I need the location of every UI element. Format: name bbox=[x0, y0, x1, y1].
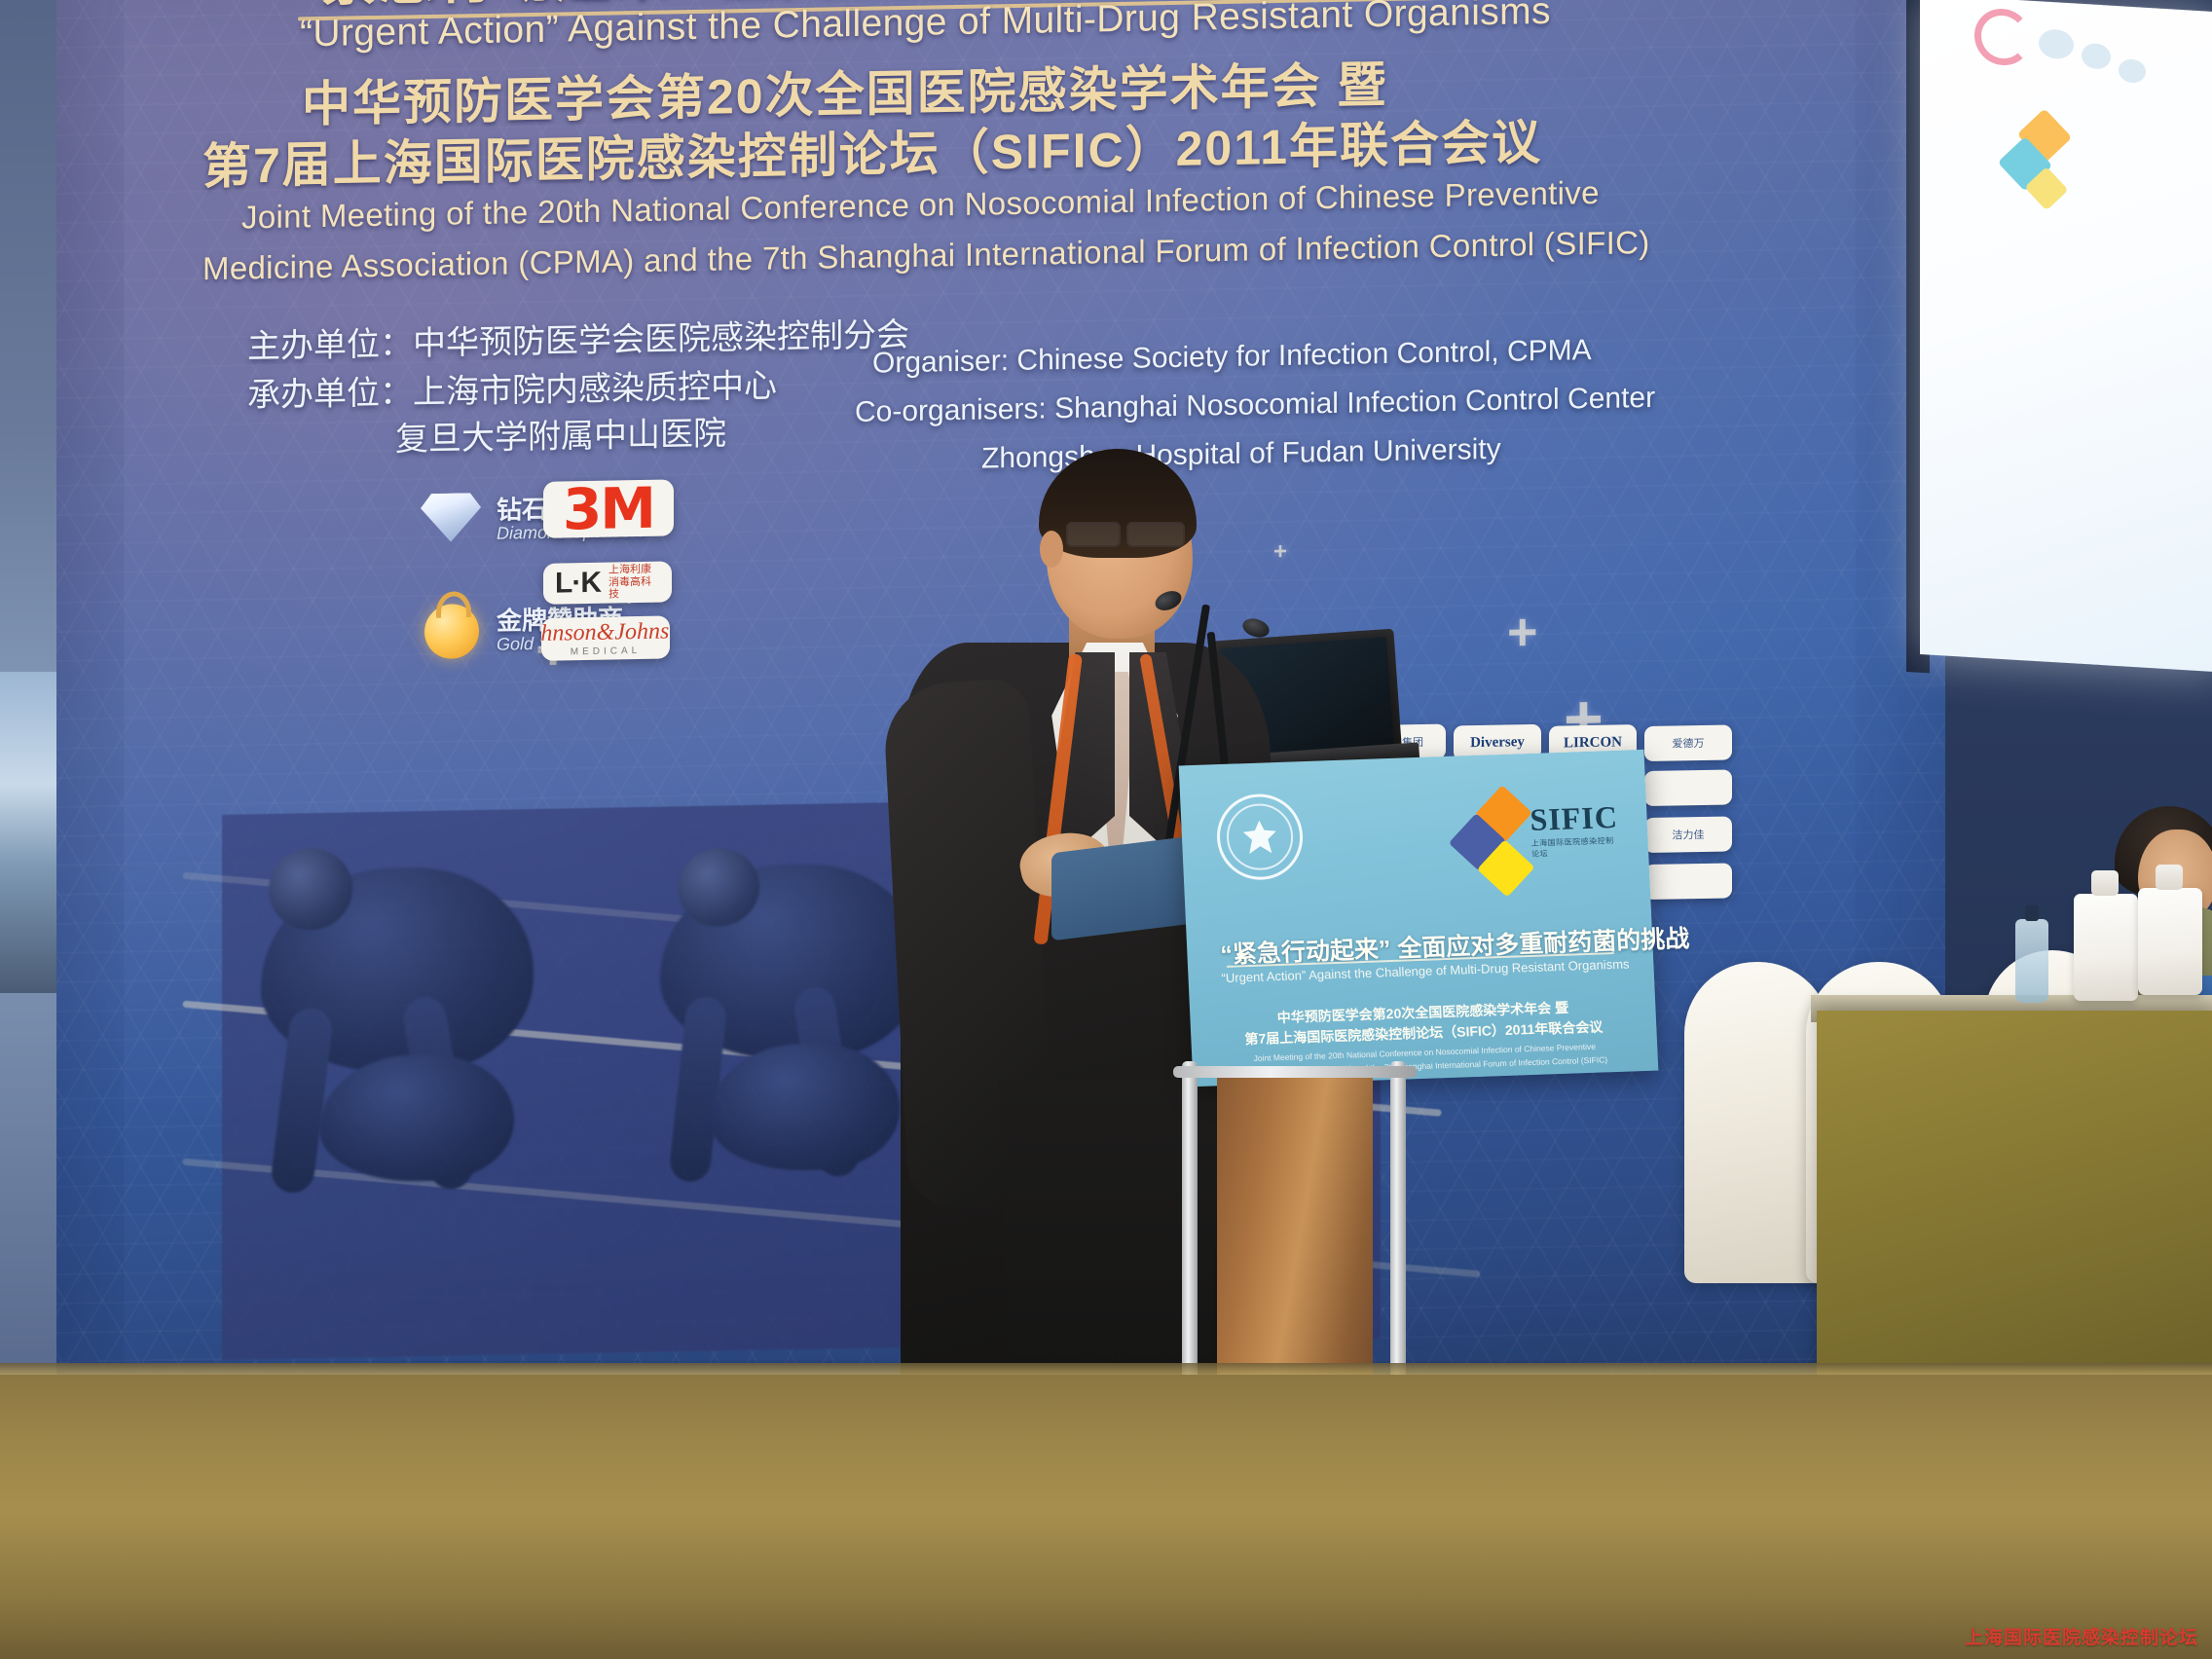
host-label-text: 主办单位： bbox=[247, 325, 413, 365]
sponsor-chip-johnson: Johnson&Johnson MEDICAL bbox=[541, 615, 670, 660]
sponsor-jj-sub: MEDICAL bbox=[541, 645, 670, 658]
slide-blob bbox=[2039, 28, 2074, 59]
sific-wordmark-sub: 上海国际医院感染控制论坛 bbox=[1530, 835, 1619, 860]
diamond-icon bbox=[421, 493, 481, 542]
sific-wordmark: SIFIC 上海国际医院感染控制论坛 bbox=[1530, 799, 1620, 860]
sific-logo: SIFIC 上海国际医院感染控制论坛 bbox=[1460, 790, 1610, 874]
sponsor-wall-label: Diversey bbox=[1470, 734, 1525, 752]
screenshot-root: + + + + + + “紧急行动起来” 全面应对多重耐药菌的挑战 “Urgen… bbox=[0, 0, 2212, 1659]
sponsor-wall-item bbox=[1644, 769, 1732, 806]
organiser-value-1: 上海市院内感染质控中心 bbox=[413, 367, 777, 411]
organiser-en-label: Organiser: bbox=[872, 345, 1009, 380]
sponsor-wall-item bbox=[1644, 863, 1732, 900]
podium-front-sign: SIFIC 上海国际医院感染控制论坛 “紧急行动起来” 全面应对多重耐药菌的挑战… bbox=[1179, 750, 1659, 1087]
sponsor-lk-label: L·K bbox=[555, 567, 601, 601]
coorganisers-en-value-1: Shanghai Nosocomial Infection Control Ce… bbox=[1054, 382, 1655, 424]
image-watermark: 上海国际医院感染控制论坛 bbox=[1965, 1623, 2198, 1649]
host-value-text: 中华预防医学会医院感染控制分会 bbox=[413, 316, 909, 362]
projection-screen bbox=[1920, 0, 2212, 673]
backdrop-coorganisers-en: Co-organisers: Shanghai Nosocomial Infec… bbox=[855, 382, 1655, 429]
sponsor-chip-3m: 3M bbox=[543, 479, 674, 537]
hand-sanitizer-bottle bbox=[2138, 888, 2202, 995]
sponsor-wall-label: LIRCON bbox=[1564, 734, 1622, 752]
sponsor-3m-label: 3M bbox=[563, 479, 654, 537]
backdrop-organiser-en: Organiser: Chinese Society for Infection… bbox=[872, 334, 1592, 381]
left-window bbox=[0, 672, 64, 993]
organiser-en-value: Chinese Society for Infection Control, C… bbox=[1016, 334, 1591, 377]
slide-ring-graphic bbox=[1974, 7, 2031, 66]
sponsor-wall-label: 洁力佳 bbox=[1673, 827, 1705, 843]
stage-floor bbox=[0, 1375, 2212, 1659]
organiser-label-text: 承办单位： bbox=[247, 374, 413, 414]
sific-wordmark-text: SIFIC bbox=[1530, 799, 1619, 837]
podium-rail bbox=[1173, 1066, 1417, 1078]
slide-blob bbox=[2082, 43, 2111, 70]
slide-blob bbox=[2119, 58, 2146, 84]
water-bottle bbox=[2015, 919, 2048, 1003]
sponsor-wall-label: 爱德万 bbox=[1673, 735, 1705, 752]
backdrop-title-en-line2: Medicine Association (CPMA) and the 7th … bbox=[203, 224, 1650, 287]
speaker-ear bbox=[1040, 531, 1063, 568]
sponsor-jj-label: Johnson&Johnson bbox=[541, 618, 670, 646]
sponsor-wall-item: 爱德万 bbox=[1644, 724, 1732, 761]
backdrop-organiser-value-2: 复旦大学附属中山医院 bbox=[395, 406, 726, 460]
sponsor-lk-sub: 上海利康消毒高科技 bbox=[608, 564, 660, 602]
head-table-cloth bbox=[1817, 1011, 2212, 1390]
sponsor-chip-lk: L·K 上海利康消毒高科技 bbox=[543, 561, 672, 604]
hand-sanitizer-bottle bbox=[2074, 894, 2138, 1001]
backdrop-host-label: 主办单位：中华预防医学会医院感染控制分会 bbox=[247, 308, 909, 367]
backdrop-coorganisers-en-value-2: Zhongshan Hospital of Fudan University bbox=[981, 433, 1501, 476]
cpma-seal-icon bbox=[1215, 793, 1305, 881]
sponsor-wall-item: 洁力佳 bbox=[1644, 816, 1732, 853]
gold-medal-icon bbox=[424, 604, 479, 659]
speaker-glasses-icon bbox=[1066, 522, 1193, 545]
coorganisers-en-label: Co-organisers: bbox=[855, 392, 1047, 428]
